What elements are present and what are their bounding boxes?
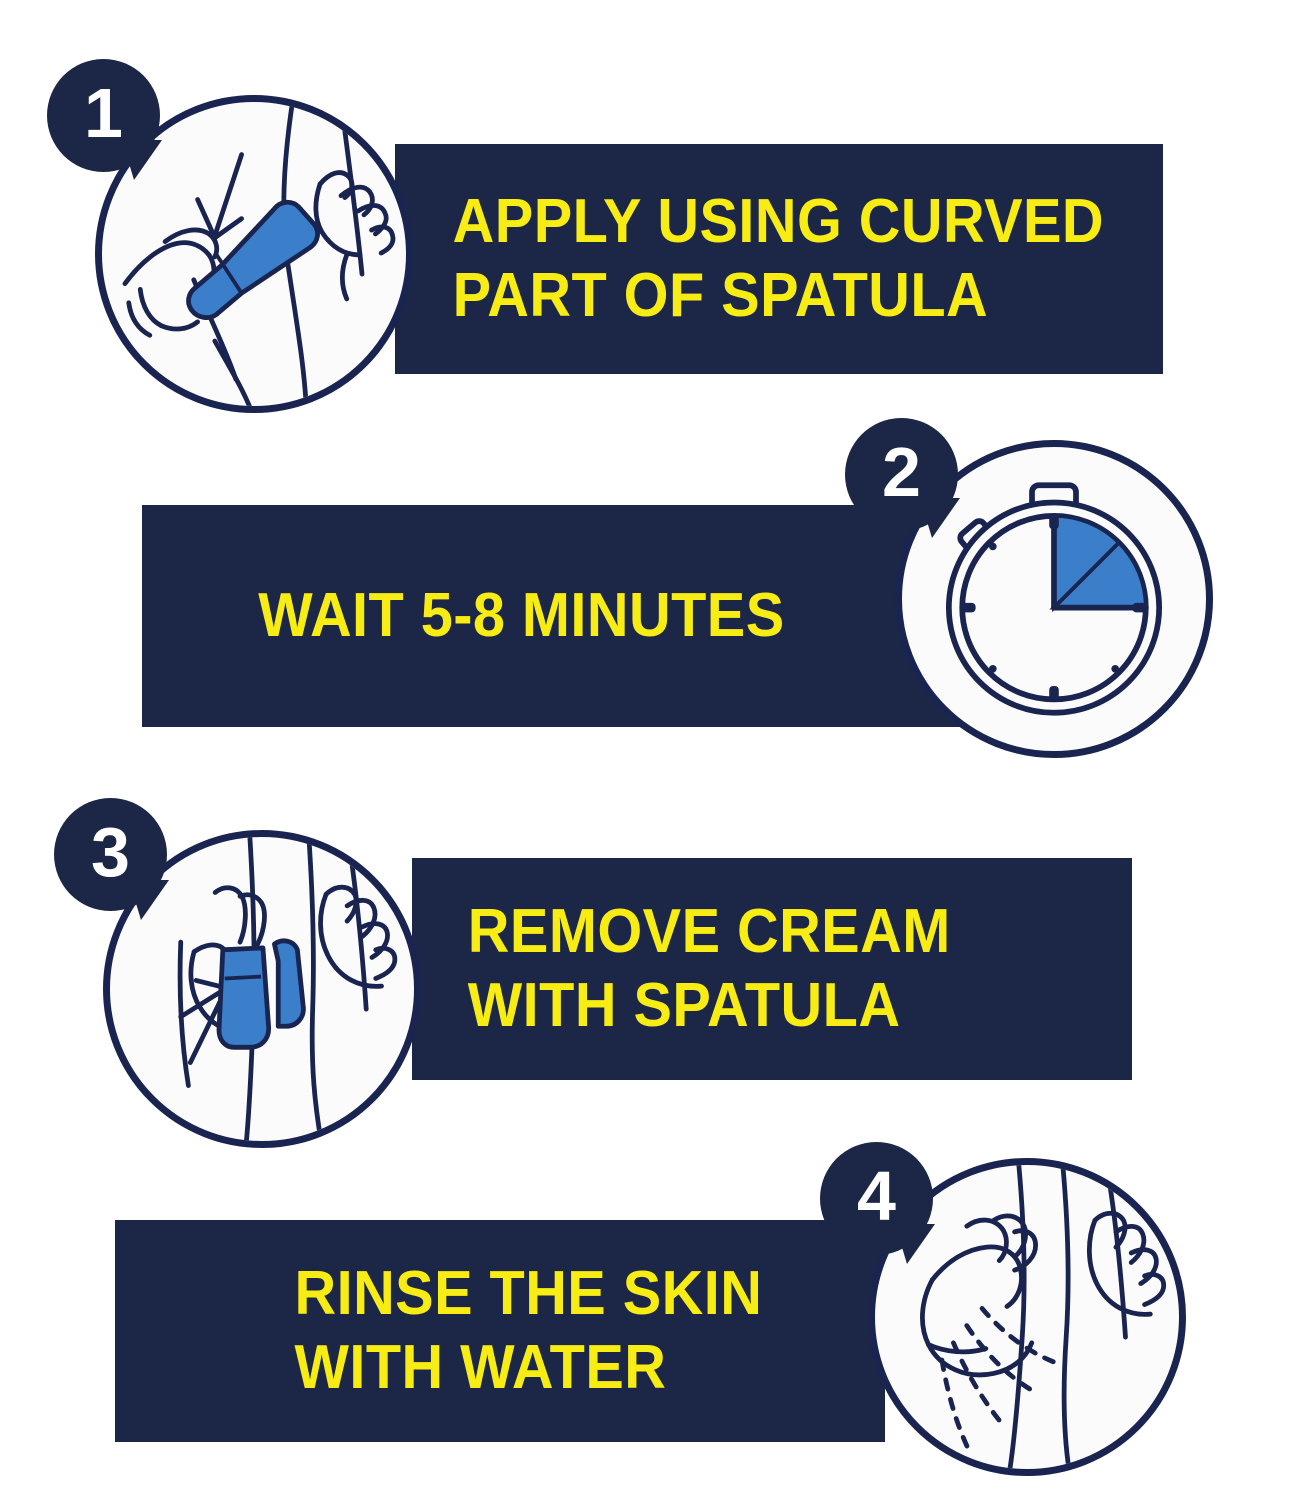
step-4-number-badge: 4 <box>820 1142 933 1255</box>
step-3-label: REMOVE CREAM WITH SPATULA <box>412 895 951 1044</box>
step-3-number-badge: 3 <box>54 798 167 911</box>
step-3-banner: REMOVE CREAM WITH SPATULA <box>412 858 1132 1080</box>
step-4-label: RINSE THE SKIN WITH WATER <box>115 1257 762 1406</box>
step-2-number-badge: 2 <box>845 418 958 531</box>
step-1-number-badge: 1 <box>47 59 160 172</box>
step-2-number: 2 <box>882 437 921 507</box>
step-4-number: 4 <box>857 1161 896 1231</box>
step-3-number: 3 <box>91 817 130 887</box>
step-2-label: WAIT 5-8 MINUTES <box>142 579 785 653</box>
step-4-banner: RINSE THE SKIN WITH WATER <box>115 1220 885 1442</box>
step-1-label: APPLY USING CURVED PART OF SPATULA <box>395 185 1104 334</box>
step-1-number: 1 <box>84 78 123 148</box>
step-1-banner: APPLY USING CURVED PART OF SPATULA <box>395 144 1163 374</box>
step-2-banner: WAIT 5-8 MINUTES <box>142 505 1020 727</box>
instruction-infographic: APPLY USING CURVED PART OF SPATULA <box>0 0 1300 1500</box>
